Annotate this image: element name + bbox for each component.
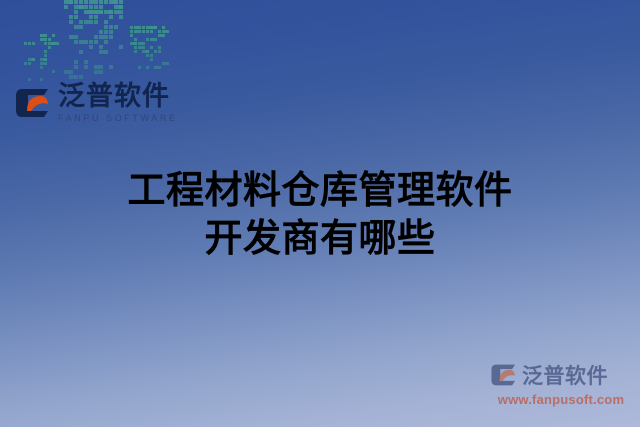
page-title-line-2: 开发商有哪些 — [0, 216, 640, 264]
brand-logo-chinese: 泛普软件 — [58, 83, 178, 110]
page-title-line-1: 工程材料仓库管理软件 — [0, 168, 640, 216]
watermark-chinese: 泛普软件 — [522, 360, 608, 390]
brand-logo: 泛普软件 FANPU SOFTWARE — [14, 76, 174, 130]
banner-canvas: 泛普软件 FANPU SOFTWARE 工程材料仓库管理软件 开发商有哪些 泛普… — [0, 0, 640, 427]
watermark: 泛普软件 www.fanpusoft.com — [490, 359, 632, 417]
brand-logo-wordmark: 泛普软件 FANPU SOFTWARE — [58, 83, 178, 123]
pixel-matrix-decoration — [22, 0, 166, 82]
fanpu-logo-icon — [14, 84, 52, 122]
page-title: 工程材料仓库管理软件 开发商有哪些 — [0, 168, 640, 264]
watermark-logo-row: 泛普软件 — [490, 359, 632, 391]
brand-logo-english: FANPU SOFTWARE — [58, 114, 178, 123]
watermark-url: www.fanpusoft.com — [490, 392, 632, 407]
fanpu-logo-icon — [490, 361, 518, 389]
